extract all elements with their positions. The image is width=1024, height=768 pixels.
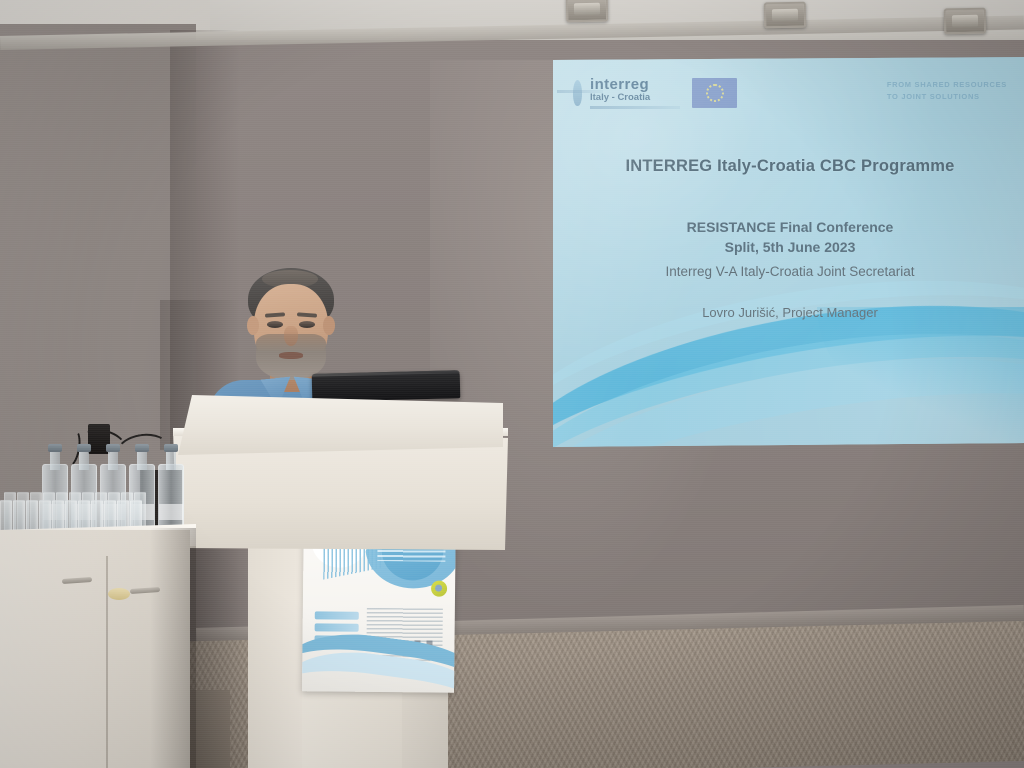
- ceiling-spotlight-icon: [764, 2, 806, 29]
- speaker-mouth: [279, 352, 303, 359]
- conference-photo: interreg Italy - Croatia FROM SHARED RES…: [0, 0, 1024, 768]
- slide-title: INTERREG Italy-Croatia CBC Programme: [553, 157, 1024, 176]
- slide-tagline-line2: TO JOINT SOLUTIONS: [887, 91, 1007, 103]
- european-union-flag-icon: [692, 78, 737, 108]
- eu-flag-caption-line: [557, 90, 603, 93]
- laptop: [312, 370, 461, 402]
- ceiling-spotlight-icon: [944, 8, 986, 35]
- speaker-nose: [284, 326, 298, 346]
- cabinet-shadow: [150, 528, 196, 768]
- slide-presenter: Lovro Jurišić, Project Manager: [553, 305, 1024, 320]
- speaker-ear-right: [323, 316, 335, 335]
- slide-tagline: FROM SHARED RESOURCES TO JOINT SOLUTIONS: [887, 79, 1007, 102]
- poster-badge-icon: [431, 581, 447, 597]
- speaker-ear-left: [247, 316, 259, 335]
- water-bottle: [158, 444, 184, 536]
- poster-bar-item: [315, 623, 359, 631]
- slide-subtitle-line2: Split, 5th June 2023: [553, 237, 1024, 257]
- slide-subtitle-line1: RESISTANCE Final Conference: [553, 217, 1024, 237]
- slide-tagline-line1: FROM SHARED RESOURCES: [887, 79, 1007, 91]
- slide-subtitle: RESISTANCE Final Conference Split, 5th J…: [553, 217, 1024, 258]
- poster-bar-item: [315, 611, 359, 619]
- speaker-eye-left: [267, 321, 283, 328]
- ceiling-spotlight-icon: [566, 0, 608, 22]
- cup-lid: [108, 588, 130, 600]
- slide-organisation: Interreg V-A Italy-Croatia Joint Secreta…: [553, 264, 1024, 279]
- speaker-eye-right: [299, 321, 315, 328]
- logo-programme-text: Italy - Croatia: [590, 93, 680, 103]
- podium-desktop: [178, 395, 503, 455]
- logo-brand-text: interreg: [590, 77, 680, 92]
- projection-screen: interreg Italy - Croatia FROM SHARED RES…: [553, 57, 1024, 447]
- logo-underline: [590, 106, 680, 109]
- cabinet-door-seam: [106, 556, 108, 768]
- podium-column-left: [248, 542, 302, 768]
